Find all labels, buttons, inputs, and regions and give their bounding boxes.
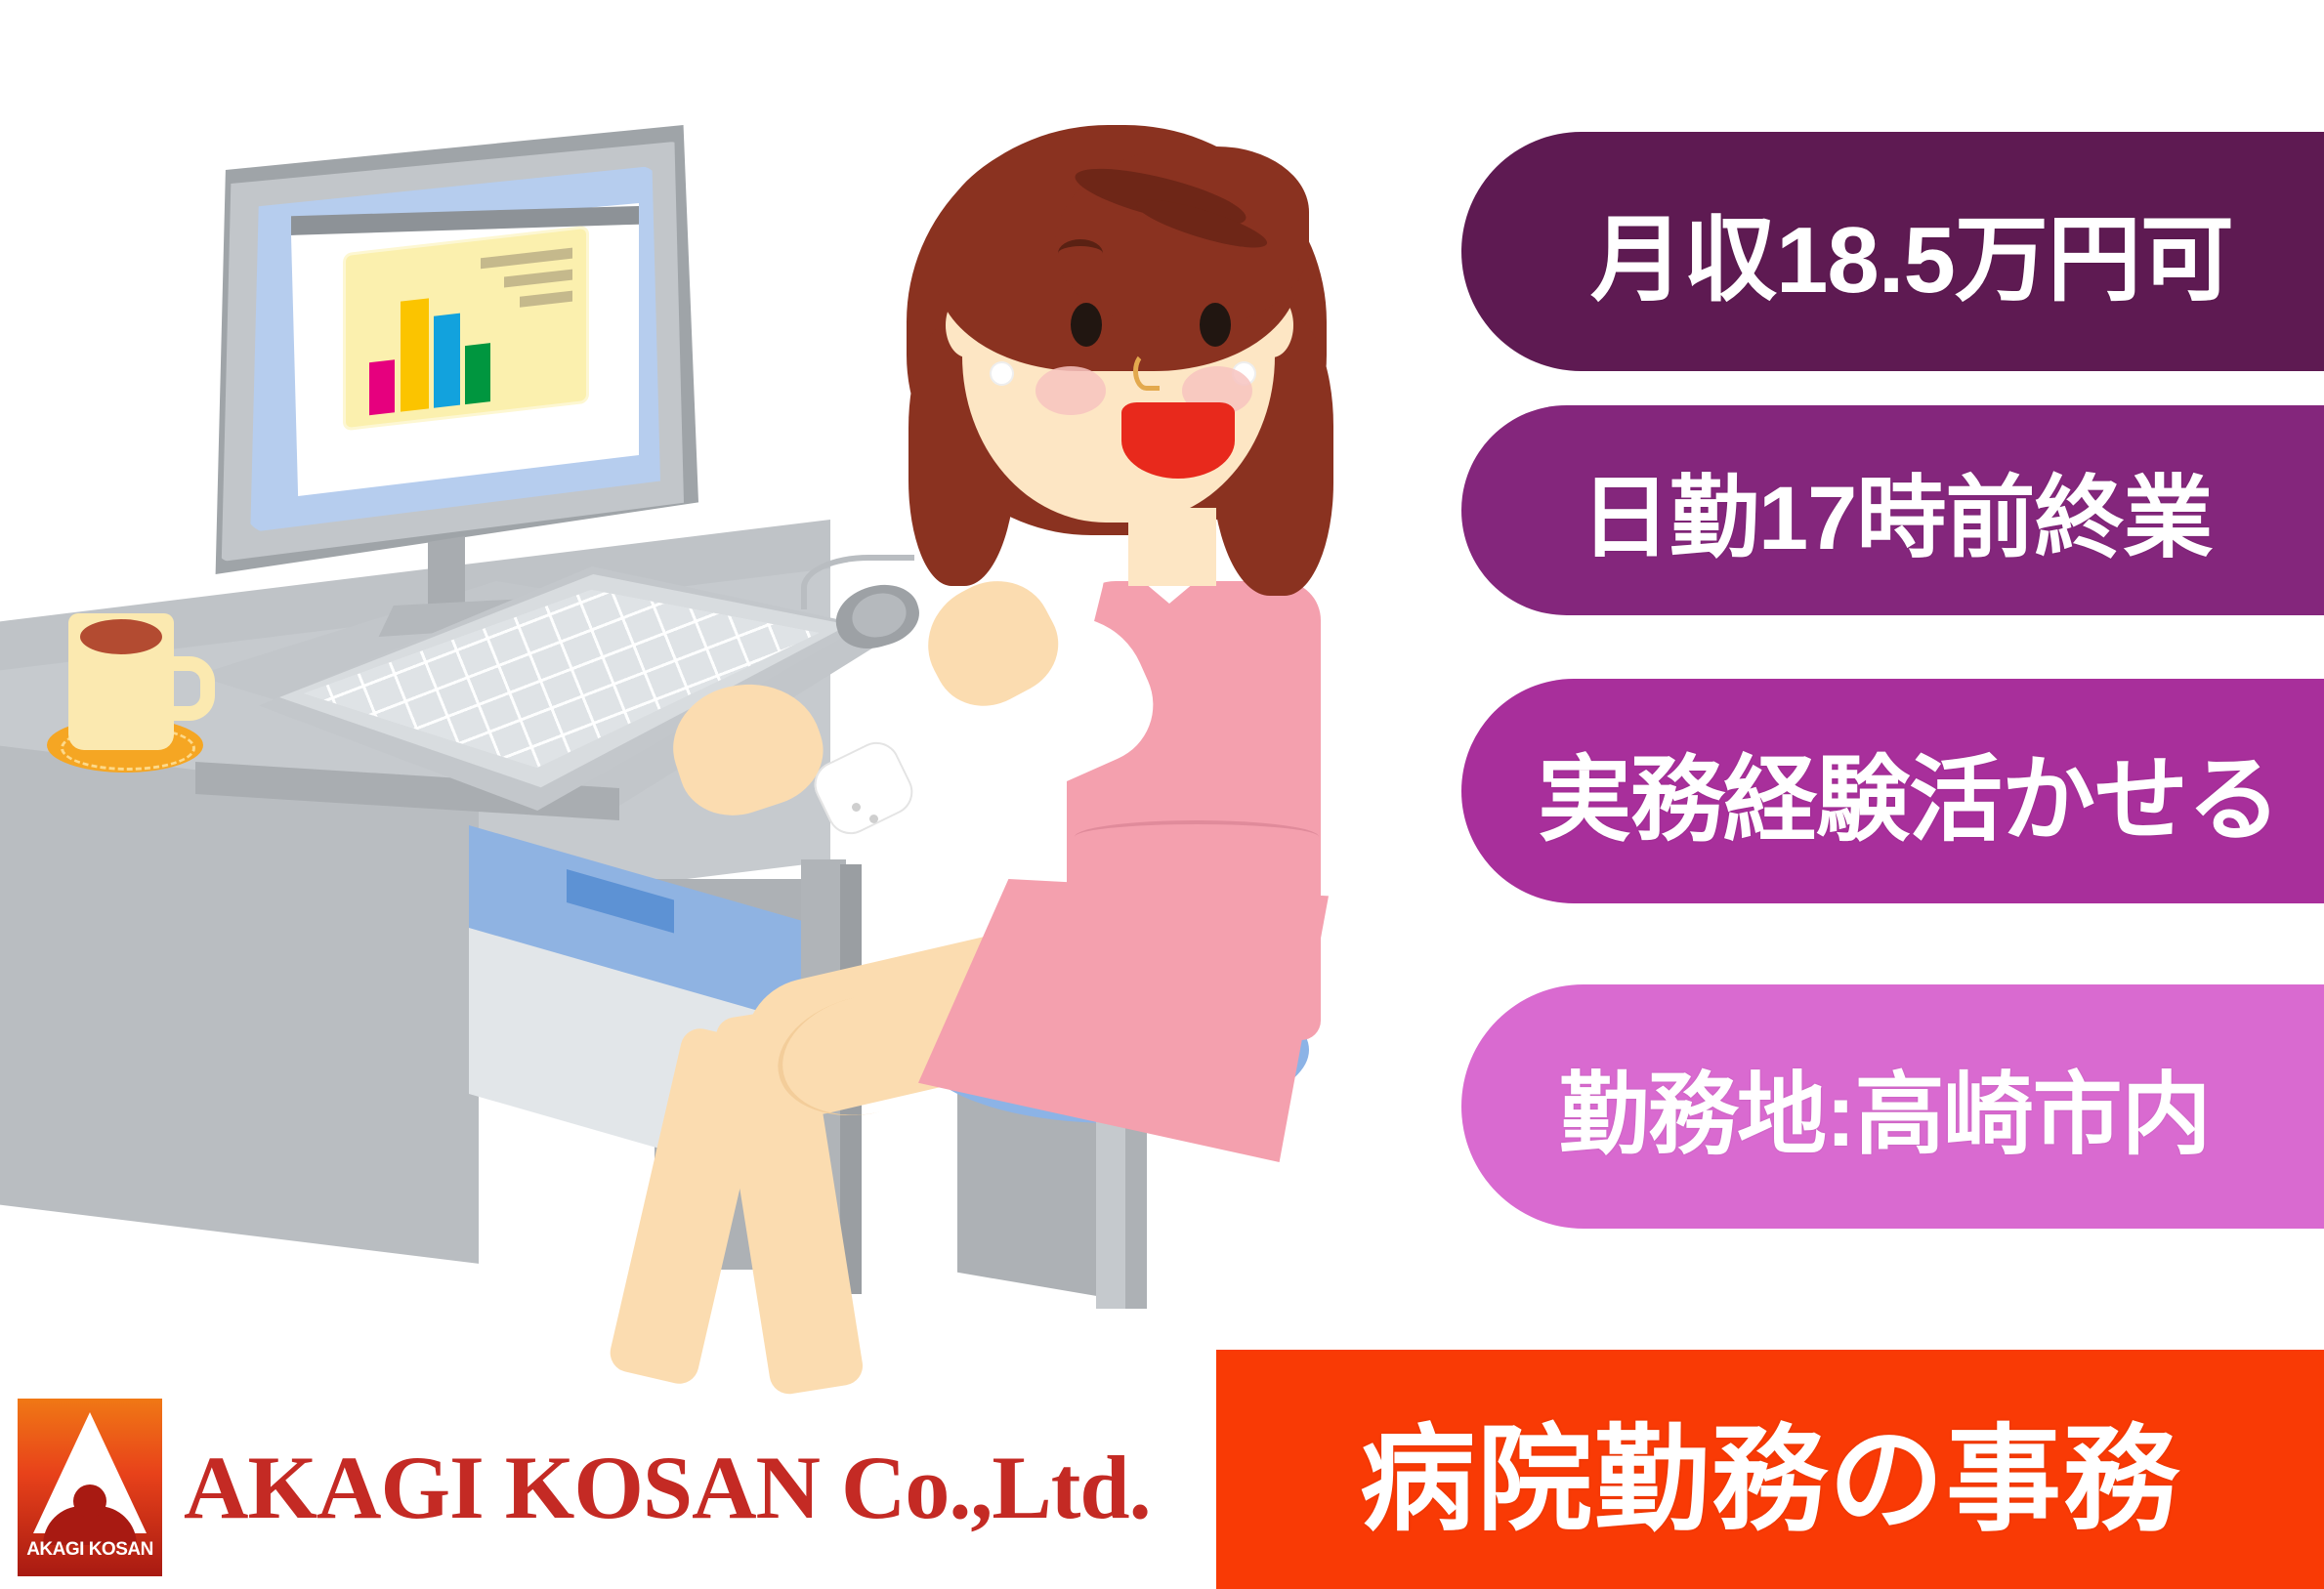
- coffee-surface: [80, 619, 162, 654]
- spreadsheet-document: [346, 229, 586, 428]
- apron-seam: [1075, 820, 1319, 854]
- logo-mark-text: AKAGI KOSAN: [18, 1539, 162, 1561]
- cheek-blush: [1035, 366, 1106, 415]
- person-head-icon: [73, 1484, 106, 1518]
- benefit-badge-list: 月収18.5万円可 日勤17時前終業 実務経験活かせる 勤務地:高崎市内: [1461, 0, 2324, 1309]
- badge-salary: 月収18.5万円可: [1461, 132, 2324, 371]
- chart-bar: [465, 343, 490, 404]
- chart-bar: [369, 359, 395, 415]
- badge-location-label: 勤務地:高崎市内: [1461, 1042, 2211, 1172]
- cuff-button: [852, 803, 861, 812]
- company-name-wordmark: AKAGI KOSAN Co.,Ltd.: [184, 1436, 1151, 1539]
- akagi-kosan-mountain-icon: AKAGI KOSAN: [18, 1399, 162, 1576]
- office-illustration: [0, 0, 1426, 1387]
- job-title-banner-label: 病院勤務の事務: [1360, 1386, 2180, 1553]
- chart-bar: [434, 314, 460, 408]
- badge-experience-label: 実務経験活かせる: [1461, 724, 2280, 859]
- job-title-banner: 病院勤務の事務: [1216, 1350, 2324, 1589]
- eye: [1071, 303, 1102, 347]
- text-line: [504, 270, 572, 288]
- eyebrow: [1058, 239, 1103, 268]
- smiling-mouth: [1121, 402, 1235, 479]
- text-line: [520, 291, 572, 308]
- company-logo: AKAGI KOSAN AKAGI KOSAN Co.,Ltd.: [18, 1399, 1151, 1576]
- badge-location: 勤務地:高崎市内: [1461, 984, 2324, 1229]
- eye: [1200, 303, 1231, 347]
- badge-working-hours-label: 日勤17時前終業: [1461, 445, 2212, 575]
- text-line: [481, 248, 572, 270]
- chart-bar: [401, 298, 429, 411]
- badge-salary-label: 月収18.5万円可: [1461, 184, 2233, 319]
- badge-working-hours: 日勤17時前終業: [1461, 405, 2324, 615]
- desk-left-panel: [0, 742, 479, 1264]
- nose: [1133, 352, 1160, 391]
- cuff-button: [869, 815, 878, 823]
- bottom-cropped-text: [195, 1574, 1211, 1589]
- earring: [992, 363, 1012, 384]
- job-advertisement-poster: 月収18.5万円可 日勤17時前終業 実務経験活かせる 勤務地:高崎市内 病院勤…: [0, 0, 2324, 1589]
- badge-experience: 実務経験活かせる: [1461, 679, 2324, 903]
